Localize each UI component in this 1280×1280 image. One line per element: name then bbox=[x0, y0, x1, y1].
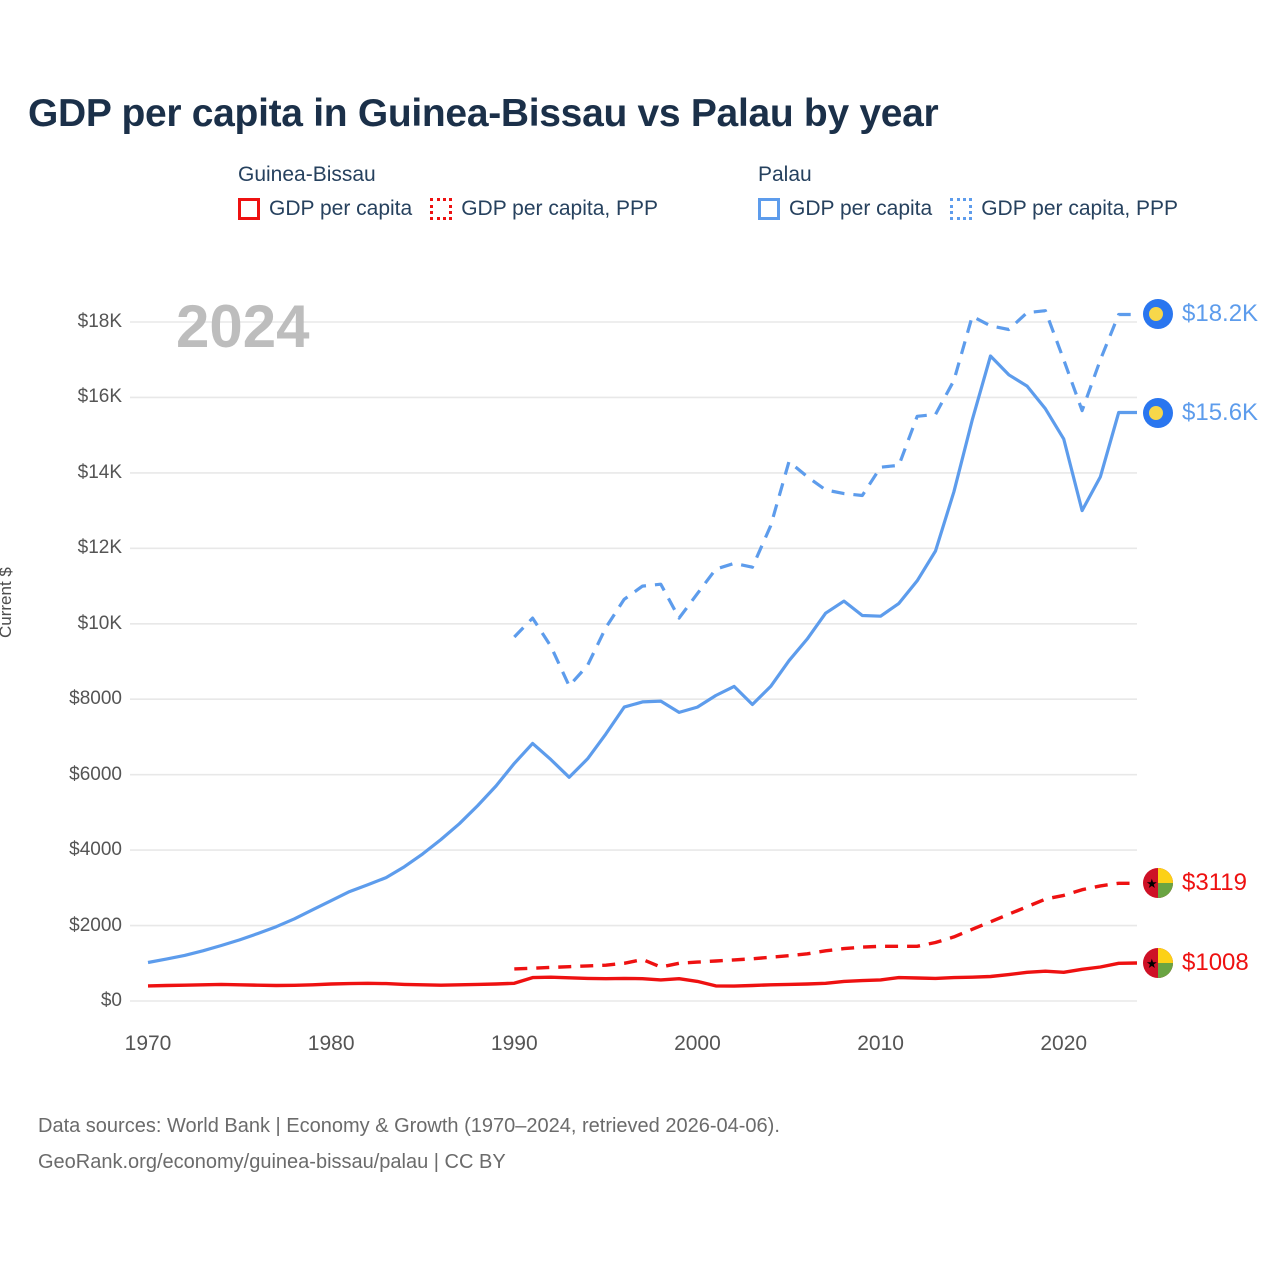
end-label-guinea-bissau-gdp: ★$1008 bbox=[1143, 948, 1249, 978]
series-line bbox=[148, 963, 1137, 986]
end-label-value: $3119 bbox=[1182, 869, 1247, 897]
palau-flag-icon bbox=[1143, 299, 1173, 329]
footer-attribution: GeoRank.org/economy/guinea-bissau/palau … bbox=[38, 1144, 780, 1180]
gb-flag-green bbox=[1158, 883, 1173, 898]
palau-flag-icon bbox=[1143, 398, 1173, 428]
chart-plot-area: Current $ $0$2000$4000$6000$8000$10K$12K… bbox=[0, 0, 1280, 1280]
chart-footer: Data sources: World Bank | Economy & Gro… bbox=[38, 1108, 780, 1180]
chart-page: GDP per capita in Guinea-Bissau vs Palau… bbox=[0, 0, 1280, 1280]
end-label-palau-ppp: $18.2K bbox=[1143, 299, 1258, 329]
end-label-value: $1008 bbox=[1182, 949, 1249, 977]
guinea-bissau-flag-icon: ★ bbox=[1143, 948, 1173, 978]
end-label-value: $15.6K bbox=[1182, 399, 1258, 427]
palau-flag-disc bbox=[1149, 307, 1163, 321]
gb-flag-yellow bbox=[1158, 868, 1173, 883]
series-line bbox=[148, 356, 1137, 963]
palau-flag-disc bbox=[1149, 406, 1163, 420]
end-label-value: $18.2K bbox=[1182, 300, 1258, 328]
end-label-palau-gdp: $15.6K bbox=[1143, 398, 1258, 428]
end-label-guinea-bissau-ppp: ★$3119 bbox=[1143, 868, 1247, 898]
year-watermark: 2024 bbox=[176, 296, 309, 358]
gb-flag-green bbox=[1158, 963, 1173, 978]
series-line bbox=[514, 311, 1137, 686]
footer-data-sources: Data sources: World Bank | Economy & Gro… bbox=[38, 1108, 780, 1144]
chart-canvas bbox=[0, 0, 1280, 1280]
gb-flag-yellow bbox=[1158, 948, 1173, 963]
guinea-bissau-flag-icon: ★ bbox=[1143, 868, 1173, 898]
